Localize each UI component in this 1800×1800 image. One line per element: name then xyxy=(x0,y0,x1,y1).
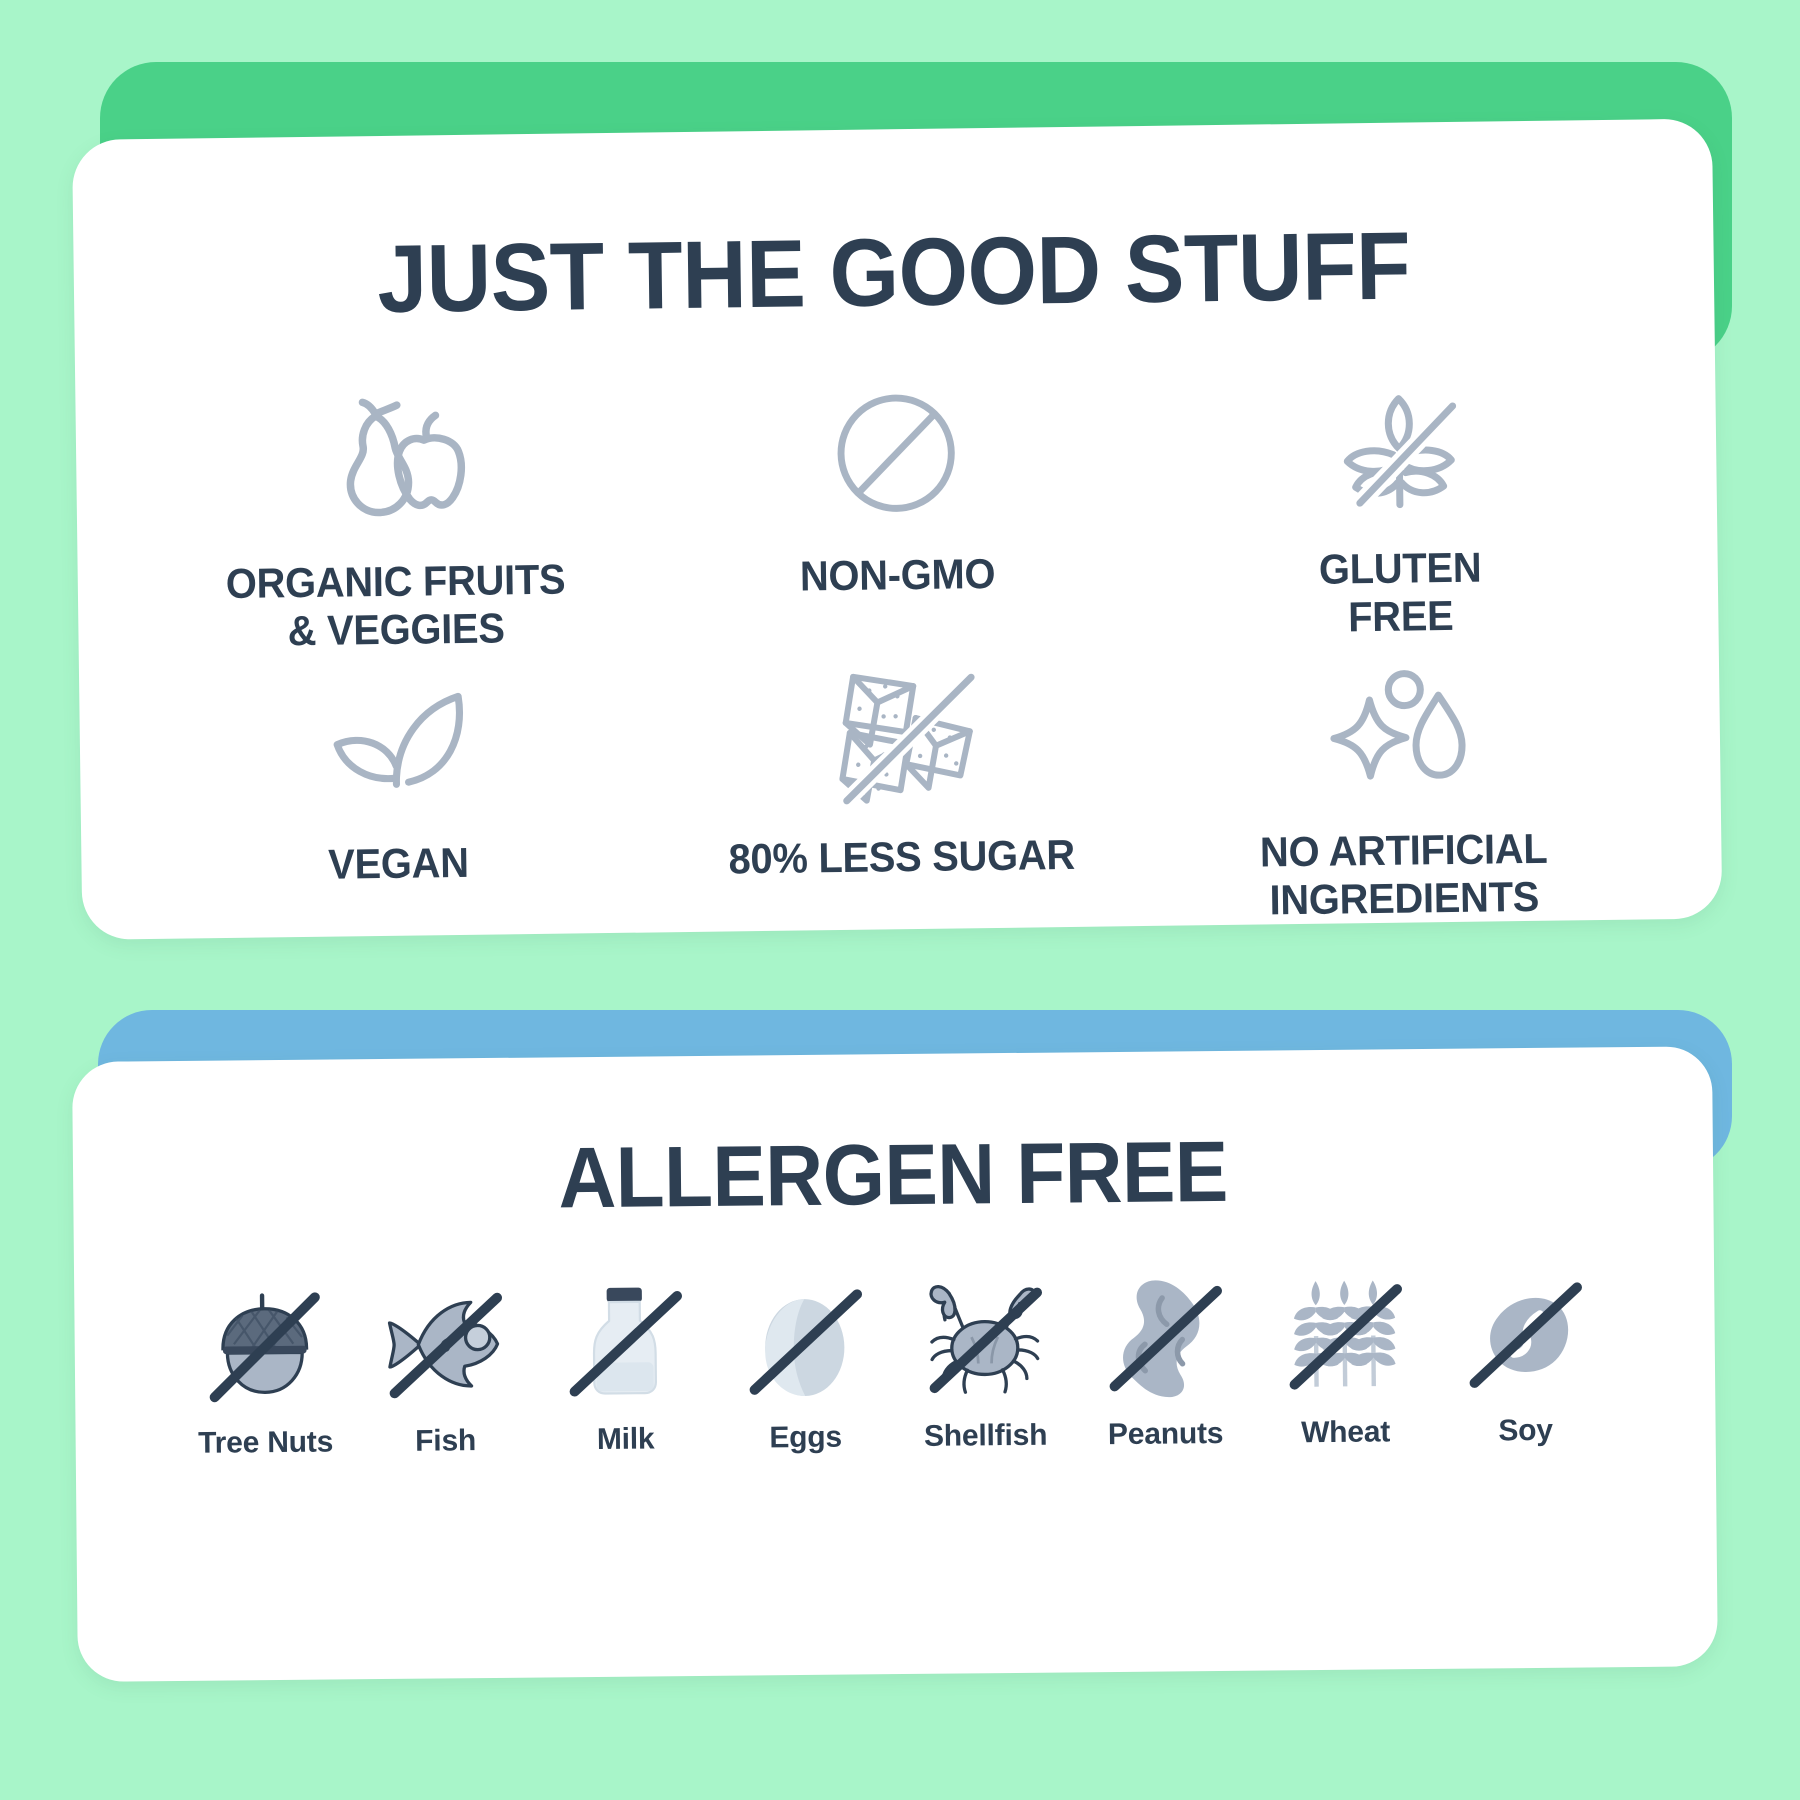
benefit-item-non-gmo: NON-GMO xyxy=(644,374,1150,650)
allergen-card-content: ALLERGEN FREE Tree Nuts xyxy=(72,1046,1718,1682)
prohibition-circle-icon xyxy=(810,376,982,530)
allergen-section-title: ALLERGEN FREE xyxy=(129,1047,1656,1226)
allergen-item-tree-nuts: Tree Nuts xyxy=(184,1279,346,1461)
allergen-item-milk: Milk xyxy=(544,1276,706,1458)
allergen-label: Fish xyxy=(415,1424,476,1459)
allergen-item-wheat: Wheat xyxy=(1264,1269,1426,1451)
soybean-icon xyxy=(1458,1267,1591,1400)
benefit-label: NO ARTIFICIAL INGREDIENTS xyxy=(1260,824,1549,924)
benefit-grid: ORGANIC FRUITS & VEGGIES NON-GMO xyxy=(75,367,1722,940)
pear-apple-icon xyxy=(308,383,480,537)
benefit-label: NON-GMO xyxy=(800,550,996,600)
allergen-item-eggs: Eggs xyxy=(724,1274,886,1456)
benefit-item-gluten-free: GLUTEN FREE xyxy=(1146,367,1652,643)
allergen-item-soy: Soy xyxy=(1444,1267,1606,1449)
allergen-item-shellfish: Shellfish xyxy=(904,1272,1066,1454)
allergen-item-peanuts: Peanuts xyxy=(1084,1271,1246,1453)
allergen-label: Tree Nuts xyxy=(198,1426,333,1461)
benefit-label: VEGAN xyxy=(328,839,469,889)
benefit-label: GLUTEN FREE xyxy=(1319,544,1483,642)
good-stuff-card: JUST THE GOOD STUFF ORGANIC FRUITS & VEG… xyxy=(72,62,1732,942)
allergen-label: Shellfish xyxy=(924,1419,1048,1454)
crab-icon xyxy=(918,1273,1051,1406)
no-sugar-cubes-icon xyxy=(814,658,986,812)
wheat-stalks-icon xyxy=(1278,1269,1411,1402)
benefit-item-organic-fruits: ORGANIC FRUITS & VEGGIES xyxy=(141,381,647,657)
allergen-icon-row: Tree Nuts Fish xyxy=(74,1210,1716,1462)
benefit-label: 80% LESS SUGAR xyxy=(728,831,1075,883)
milk-bottle-icon xyxy=(558,1276,691,1409)
sparkle-droplet-icon xyxy=(1316,651,1488,805)
allergen-label: Milk xyxy=(597,1422,655,1457)
allergen-item-fish: Fish xyxy=(364,1278,526,1460)
benefit-item-less-sugar: 80% LESS SUGAR xyxy=(648,656,1154,932)
peanut-icon xyxy=(1098,1271,1231,1404)
page-title: JUST THE GOOD STUFF xyxy=(129,119,1657,331)
allergen-free-card: ALLERGEN FREE Tree Nuts xyxy=(72,1010,1732,1700)
benefit-label: ORGANIC FRUITS & VEGGIES xyxy=(225,556,566,656)
sprout-leaves-icon xyxy=(311,664,483,818)
allergen-label: Soy xyxy=(1498,1414,1553,1449)
benefit-item-vegan: VEGAN xyxy=(145,662,651,938)
acorn-icon xyxy=(198,1280,331,1413)
good-stuff-card-content: JUST THE GOOD STUFF ORGANIC FRUITS & VEG… xyxy=(72,119,1722,940)
allergen-label: Peanuts xyxy=(1108,1417,1224,1452)
fish-icon xyxy=(378,1278,511,1411)
no-wheat-stalk-icon xyxy=(1313,370,1485,524)
benefit-item-no-artificial: NO ARTIFICIAL INGREDIENTS xyxy=(1150,649,1656,925)
allergen-label: Eggs xyxy=(769,1421,842,1456)
allergen-label: Wheat xyxy=(1301,1415,1390,1450)
egg-icon xyxy=(738,1274,871,1407)
